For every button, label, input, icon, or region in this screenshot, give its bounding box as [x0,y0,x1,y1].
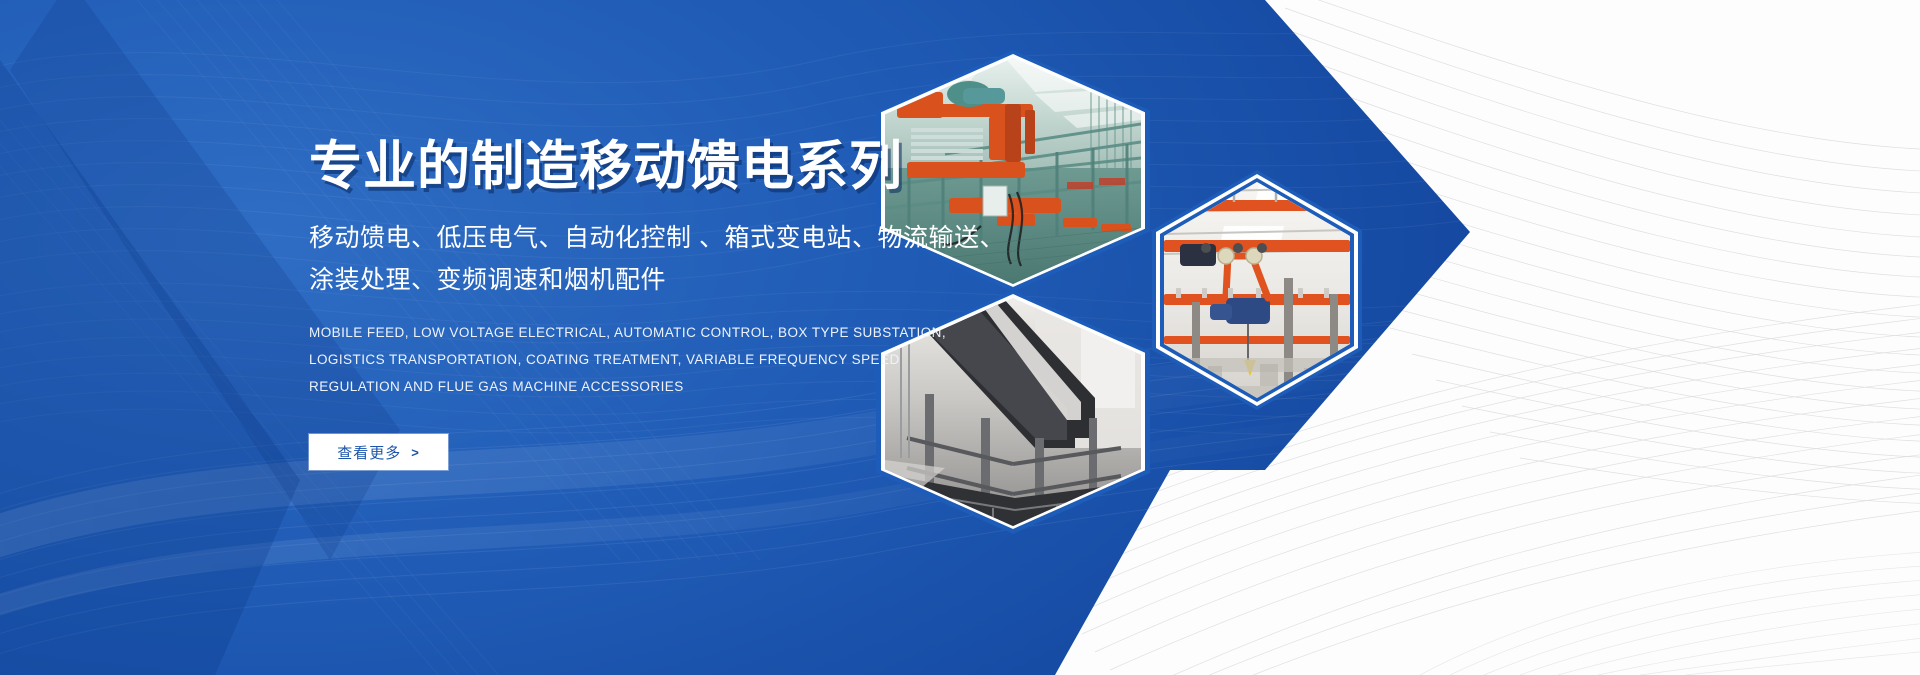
subtitle-english-line-1: MOBILE FEED, LOW VOLTAGE ELECTRICAL, AUT… [309,319,889,346]
gallery-hexagon-paint-line[interactable] [876,50,1150,292]
subtitle-english-line-2: LOGISTICS TRANSPORTATION, COATING TREATM… [309,346,889,373]
subtitle-english-line-3: REGULATION AND FLUE GAS MACHINE ACCESSOR… [309,373,889,400]
gallery-hexagon-overhead-crane[interactable] [1152,170,1362,410]
subtitle-chinese: 移动馈电、低压电气、自动化控制 、箱式变电站、物流输送、 涂装处理、变频调速和烟… [309,217,889,301]
subtitle-chinese-line-1: 移动馈电、低压电气、自动化控制 、箱式变电站、物流输送、 [309,217,889,259]
hero-content: 专业的制造移动馈电系列 移动馈电、低压电气、自动化控制 、箱式变电站、物流输送、… [309,138,889,470]
view-more-label: 查看更多 [337,442,401,463]
view-more-button[interactable]: 查看更多 > [309,434,448,470]
page-title: 专业的制造移动馈电系列 [309,138,889,195]
hero-banner: 专业的制造移动馈电系列 移动馈电、低压电气、自动化控制 、箱式变电站、物流输送、… [0,0,1920,675]
subtitle-english: MOBILE FEED, LOW VOLTAGE ELECTRICAL, AUT… [309,319,889,400]
chevron-right-icon: > [411,445,420,460]
subtitle-chinese-line-2: 涂装处理、变频调速和烟机配件 [309,259,889,301]
